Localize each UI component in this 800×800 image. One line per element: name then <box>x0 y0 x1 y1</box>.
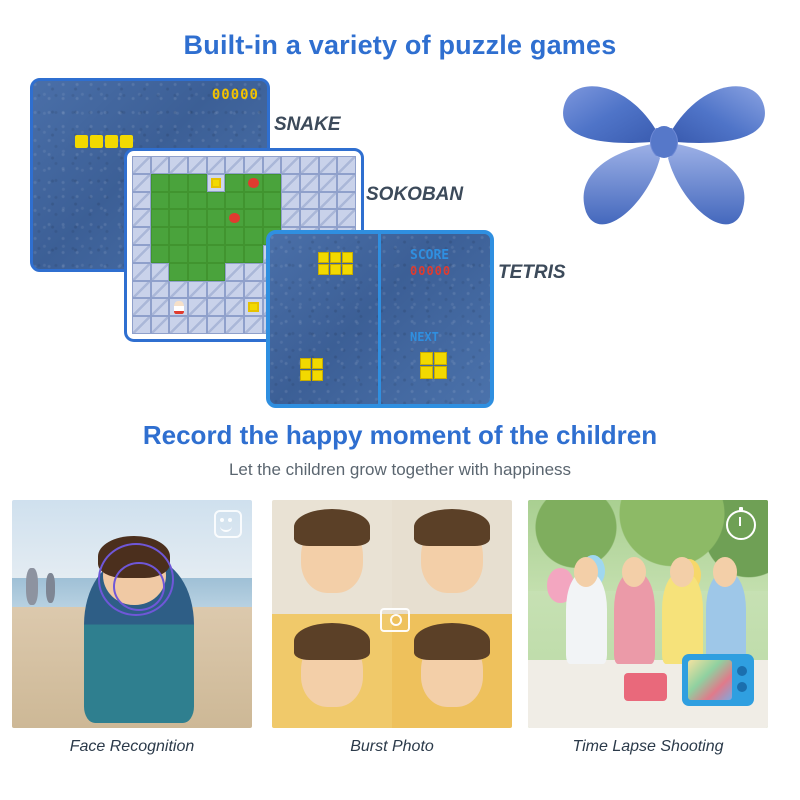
photo3-child <box>706 573 747 664</box>
photo3-child-head <box>670 557 694 587</box>
section-subtitle: Let the children grow together with happ… <box>0 460 800 480</box>
page-title: Built-in a variety of puzzle games <box>0 30 800 61</box>
tetris-next-piece-icon <box>420 352 447 379</box>
section-title: Record the happy moment of the children <box>0 420 800 451</box>
smiley-face-icon <box>214 510 242 538</box>
camera-button[interactable] <box>737 666 747 676</box>
snake-score: 00000 <box>212 87 259 103</box>
photo-card-burst-photo <box>272 500 512 728</box>
camera-icon <box>380 608 410 632</box>
photo3-child <box>614 573 655 664</box>
tetris-game-screen: SCORE 00000 NEXT <box>266 230 494 408</box>
tetris-piece-icon <box>300 358 323 381</box>
photo-card-face-recognition <box>12 500 252 728</box>
ribbon-bow-icon <box>556 72 772 244</box>
camera-screen <box>688 660 732 700</box>
tetris-panel-divider <box>378 234 381 404</box>
game-label-sokoban: SOKOBAN <box>366 184 463 206</box>
photo1-background-person <box>26 568 38 604</box>
snake-body-icon <box>75 135 133 148</box>
photo3-child-head <box>574 557 598 587</box>
photo3-child <box>566 573 607 664</box>
tetris-score-value: 00000 <box>410 264 451 278</box>
photo3-child-head <box>622 557 646 587</box>
timer-icon <box>726 510 756 540</box>
camera-button[interactable] <box>737 682 747 692</box>
tetris-piece-icon <box>318 252 353 275</box>
game-label-tetris: TETRIS <box>498 262 566 284</box>
photo3-child <box>662 573 703 664</box>
burst-frame <box>272 614 392 728</box>
photo-caption: Burst Photo <box>272 738 512 756</box>
photo-card-time-lapse <box>528 500 768 728</box>
game-label-snake: SNAKE <box>274 114 341 136</box>
burst-frame <box>392 500 512 614</box>
tetris-score-label: SCORE <box>410 248 449 263</box>
photo1-background-person <box>46 573 56 603</box>
photo-caption: Face Recognition <box>12 738 252 756</box>
birthday-cake <box>624 673 667 700</box>
photo3-child-head <box>713 557 737 587</box>
face-detect-circle <box>113 562 165 612</box>
photo-caption: Time Lapse Shooting <box>528 738 768 756</box>
burst-frame <box>392 614 512 728</box>
burst-frame <box>272 500 392 614</box>
tetris-next-label: NEXT <box>410 330 439 344</box>
kids-camera-device <box>682 654 754 706</box>
